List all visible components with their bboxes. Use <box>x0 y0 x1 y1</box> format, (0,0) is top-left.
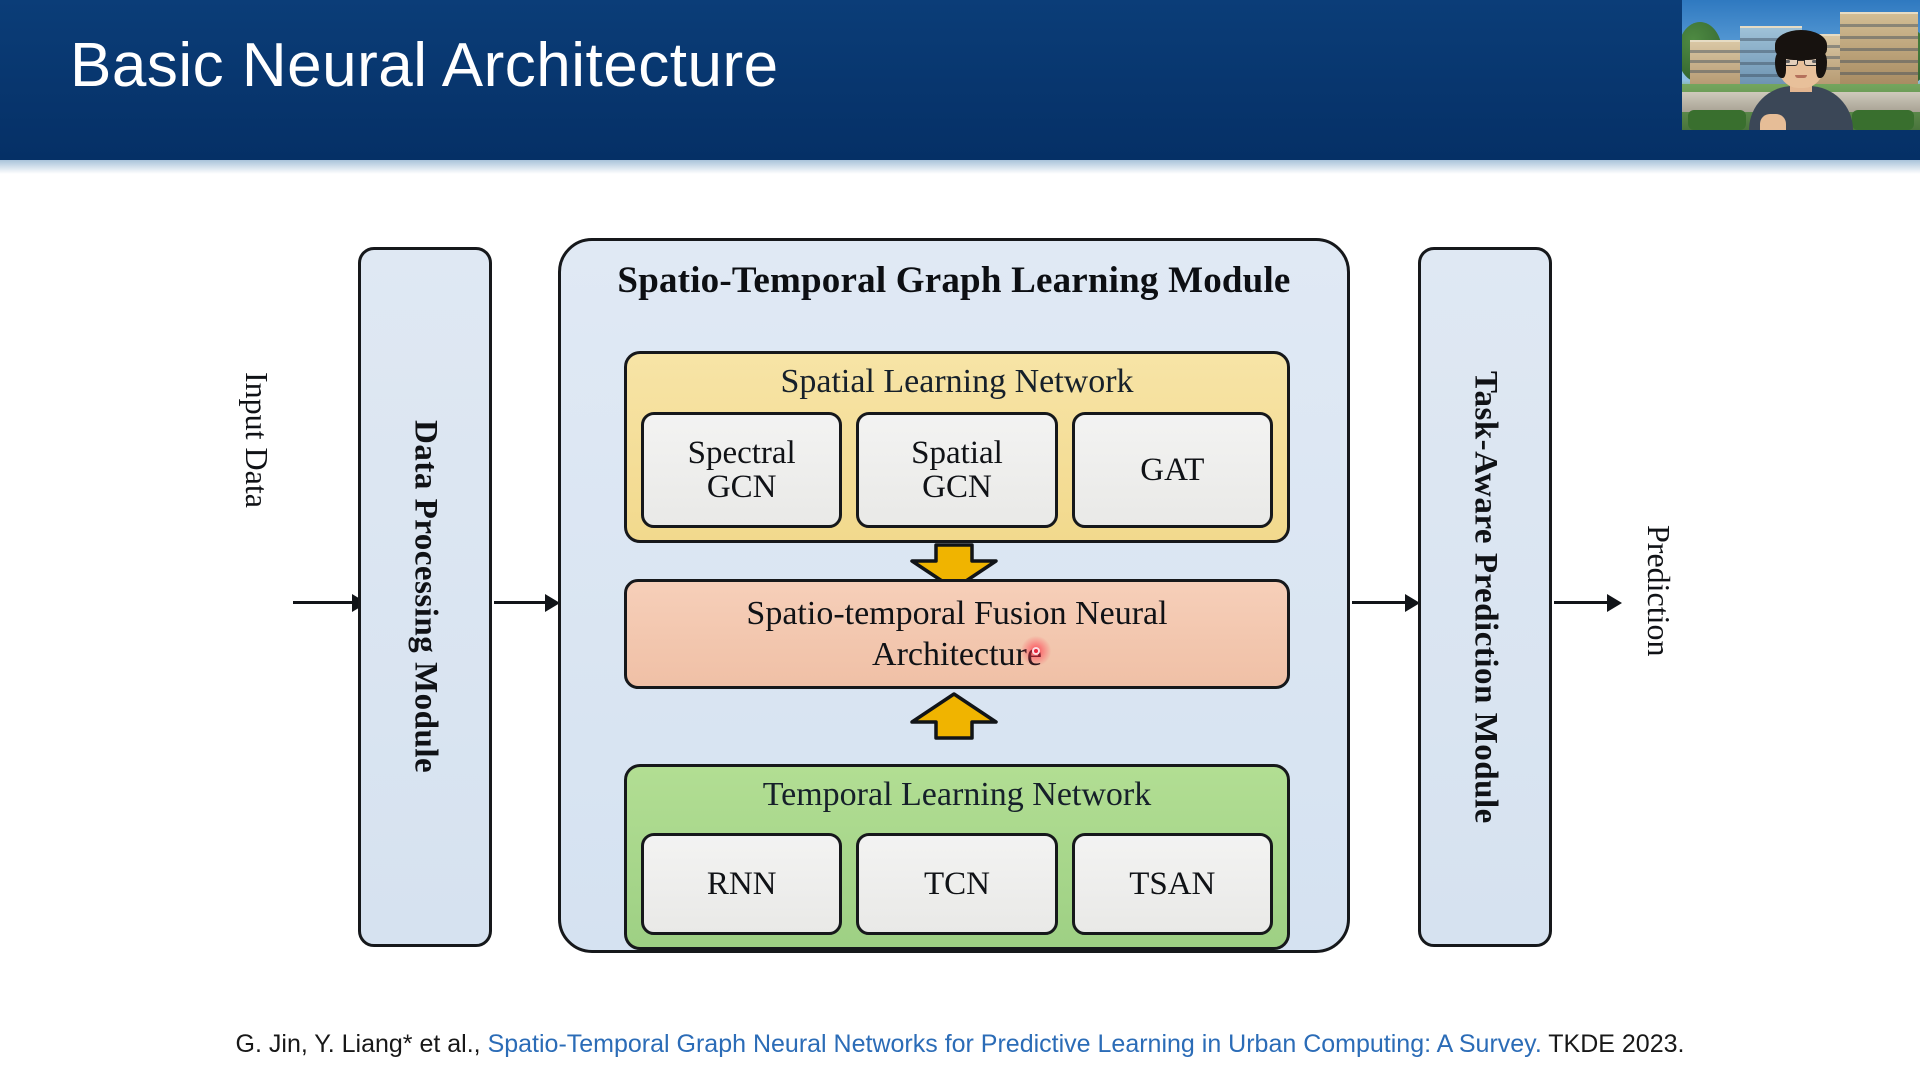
page-title: Basic Neural Architecture <box>70 30 779 101</box>
presenter-mouth <box>1795 75 1807 78</box>
temporal-learning-network-title: Temporal Learning Network <box>627 776 1287 814</box>
header-shadow <box>0 160 1920 174</box>
chip-line2: GCN <box>922 469 992 505</box>
spatio-temporal-graph-learning-module-box[interactable]: Spatio-Temporal Graph Learning Module Sp… <box>558 238 1350 953</box>
presenter-hand <box>1760 114 1786 130</box>
task-aware-prediction-module-label: Task-Aware Prediction Module <box>1467 371 1504 824</box>
chip-line1: Spectral <box>688 435 796 471</box>
chip-line1: RNN <box>707 867 777 901</box>
presenter-hair-side <box>1775 52 1786 78</box>
flow-arrowhead-output <box>1607 594 1622 612</box>
chip-spatial-gcn[interactable]: Spatial GCN <box>856 412 1057 528</box>
spatial-learning-network-title: Spatial Learning Network <box>627 363 1287 401</box>
presenter-webcam-thumbnail[interactable] <box>1682 0 1920 130</box>
spatial-chip-row: Spectral GCN Spatial GCN GAT <box>641 412 1273 528</box>
chip-tcn[interactable]: TCN <box>856 833 1057 935</box>
task-aware-prediction-module-box[interactable]: Task-Aware Prediction Module <box>1418 247 1552 947</box>
flow-line-input <box>293 601 355 604</box>
fusion-line1: Spatio-temporal Fusion Neural <box>746 595 1167 632</box>
presenter-hair-side <box>1816 52 1827 78</box>
citation-authors: G. Jin, Y. Liang* et al., <box>236 1030 488 1058</box>
chip-line1: TSAN <box>1129 867 1215 901</box>
chip-tsan[interactable]: TSAN <box>1072 833 1273 935</box>
laser-pointer-dot <box>1028 643 1044 659</box>
citation-venue: TKDE 2023. <box>1542 1030 1685 1058</box>
fusion-line2: Architecture <box>872 636 1042 673</box>
hedge-shape <box>1852 110 1914 130</box>
chip-gat[interactable]: GAT <box>1072 412 1273 528</box>
laser-pointer-core <box>1032 647 1040 655</box>
arrow-up-icon <box>894 692 1014 740</box>
chip-spectral-gcn[interactable]: Spectral GCN <box>641 412 842 528</box>
citation: G. Jin, Y. Liang* et al., Spatio-Tempora… <box>0 1030 1920 1059</box>
temporal-chip-row: RNN TCN TSAN <box>641 833 1273 935</box>
data-processing-module-label: Data Processing Module <box>407 420 444 773</box>
hedge-shape <box>1688 110 1746 130</box>
presenter-figure <box>1746 42 1856 130</box>
chip-line1: GAT <box>1140 453 1204 487</box>
citation-title-link[interactable]: Spatio-Temporal Graph Neural Networks fo… <box>488 1030 1542 1058</box>
chip-line1: Spatial <box>911 435 1003 471</box>
spatio-temporal-graph-learning-module-title: Spatio-Temporal Graph Learning Module <box>561 259 1347 302</box>
chip-line1: TCN <box>924 867 990 901</box>
spatial-learning-network-box[interactable]: Spatial Learning Network Spectral GCN Sp… <box>624 351 1290 543</box>
prediction-label: Prediction <box>1640 525 1677 657</box>
chip-rnn[interactable]: RNN <box>641 833 842 935</box>
building-shape <box>1690 40 1746 84</box>
temporal-learning-network-box[interactable]: Temporal Learning Network RNN TCN TSAN <box>624 764 1290 950</box>
architecture-diagram: Input Data Data Processing Module Spatio… <box>0 175 1920 1005</box>
spatio-temporal-fusion-box[interactable]: Spatio-temporal Fusion Neural Architectu… <box>624 579 1290 689</box>
data-processing-module-box[interactable]: Data Processing Module <box>358 247 492 947</box>
input-data-label: Input Data <box>238 372 275 508</box>
chip-line2: GCN <box>707 469 777 505</box>
